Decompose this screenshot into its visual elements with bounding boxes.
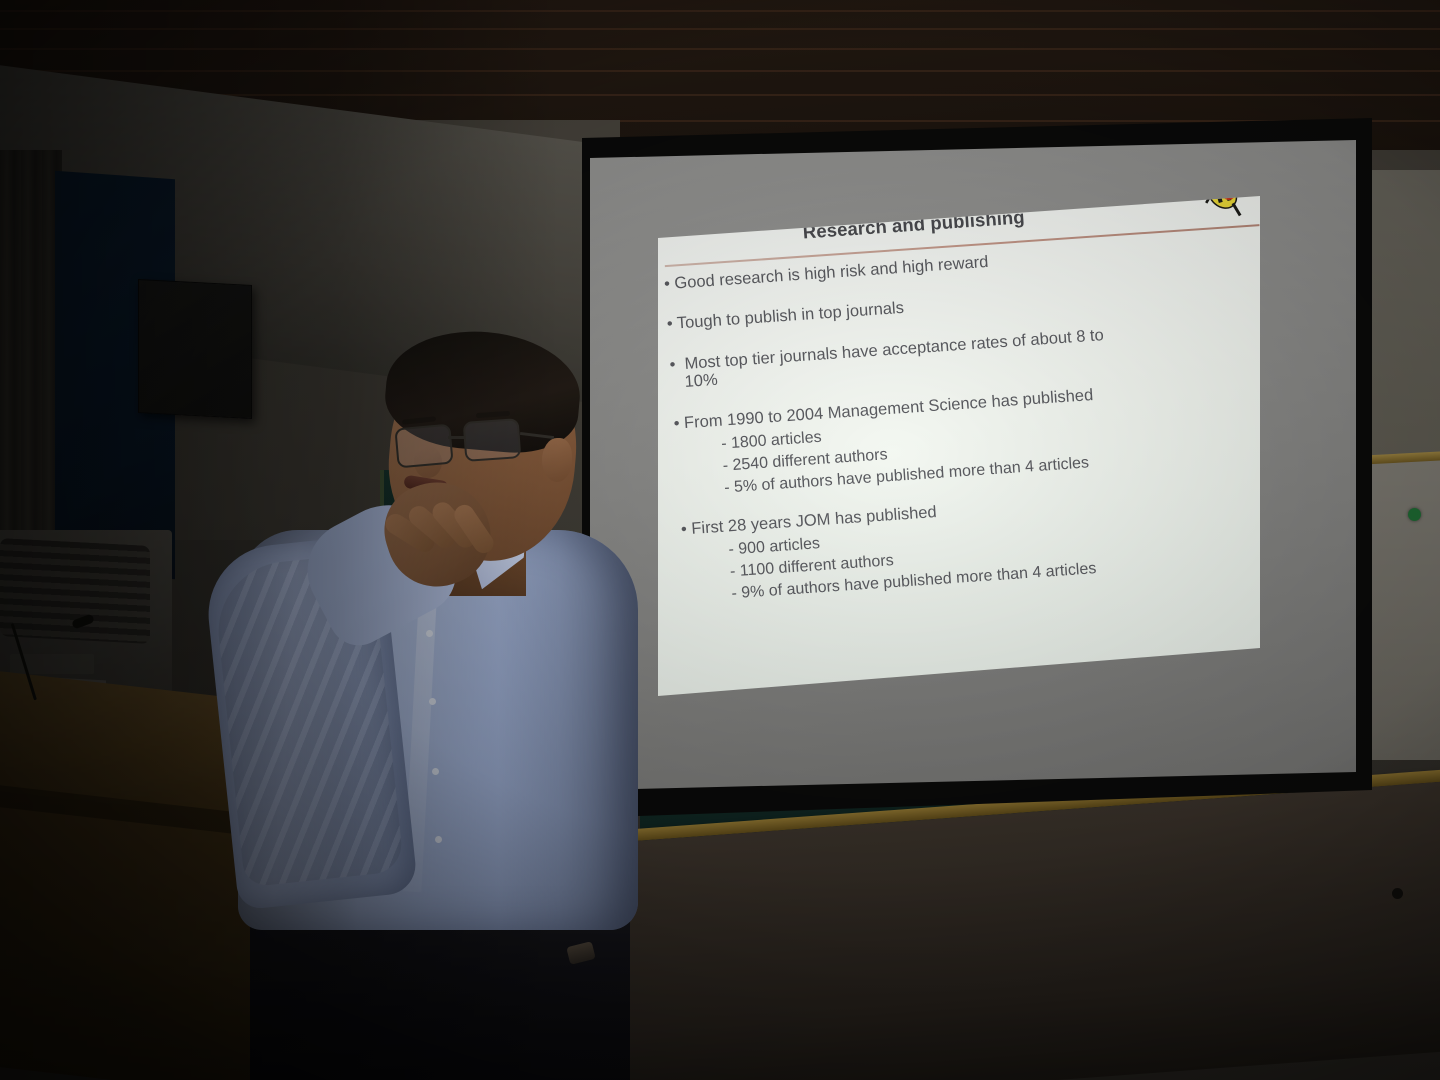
eyeglasses-bridge [448, 436, 464, 439]
green-magnet-icon [1408, 508, 1421, 521]
projected-slide: Research and publishing [650, 196, 1260, 696]
bullet-group: • First 28 years JOM has published - 900… [680, 479, 1285, 607]
bullet-group: • From 1990 to 2004 Management Science h… [673, 373, 1278, 501]
photo-scene: Research and publishing [0, 0, 1440, 1080]
presenter-ear [542, 438, 572, 482]
eyeglasses-left-lens [394, 424, 453, 469]
presenter [190, 330, 710, 1080]
eyeglasses-right-lens [463, 418, 522, 462]
wall-outlet-icon [1392, 888, 1403, 899]
slide-bullet-list: • Good research is high risk and high re… [663, 234, 1286, 627]
